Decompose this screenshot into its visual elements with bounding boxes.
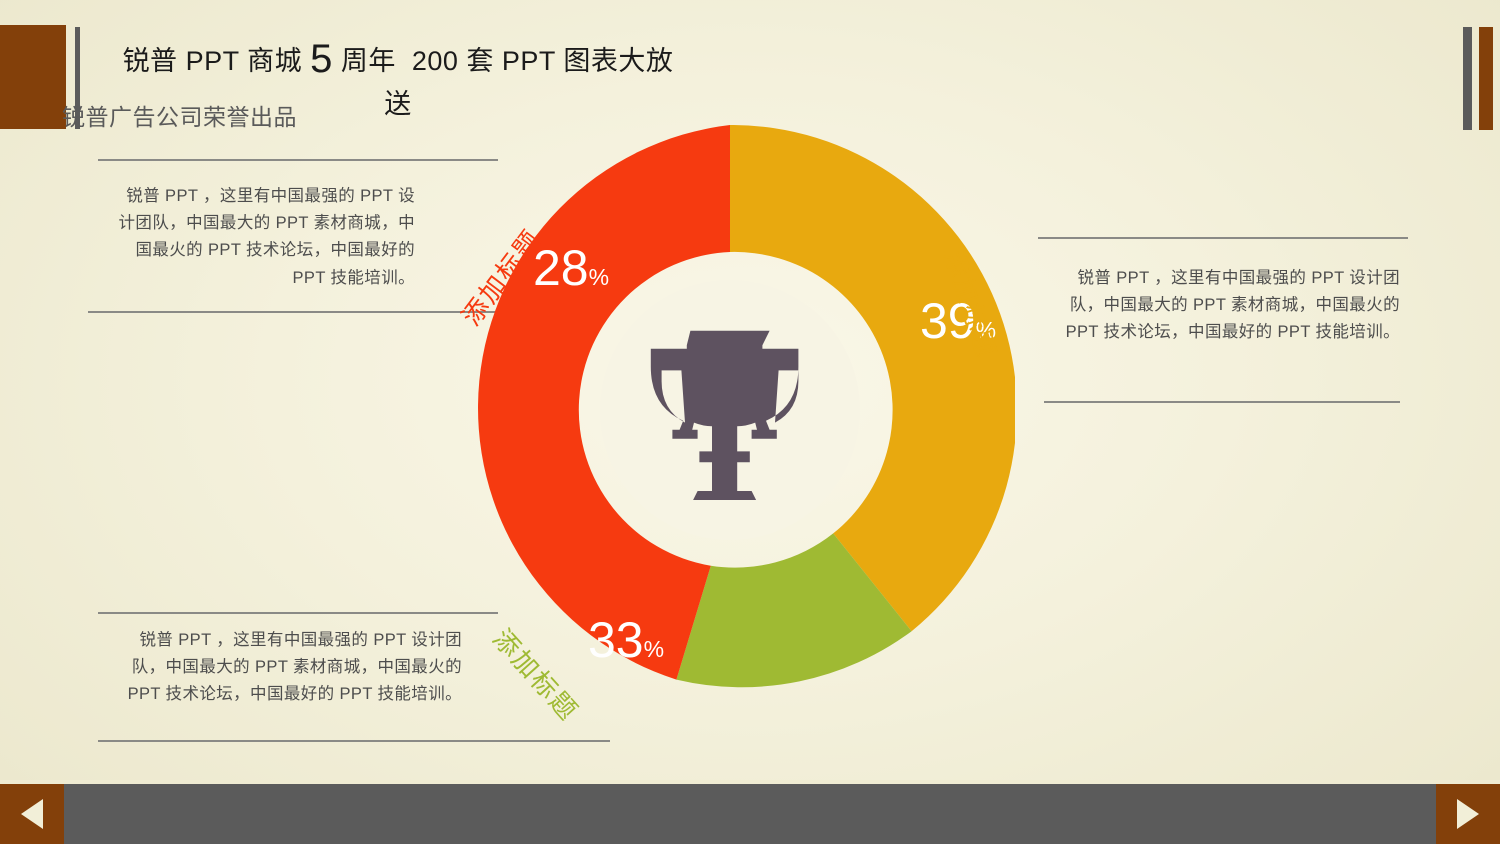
callout-left-rule-mid: [88, 311, 498, 313]
arrow-right-icon: [1457, 799, 1479, 829]
callout-right: 锐普 PPT ，这里有中国最强的 PPT 设计团队，中国最大的 PPT 素材商城…: [1060, 265, 1400, 347]
callout-bottom-rule-mid: [98, 740, 610, 742]
donut-chart: [445, 125, 1015, 695]
trophy-icon: [640, 320, 820, 500]
callout-right-text: 锐普 PPT ，这里有中国最强的 PPT 设计团队，中国最大的 PPT 素材商城…: [1060, 265, 1400, 347]
callout-left: 锐普 PPT ，这里有中国最强的 PPT 设计团队，中国最大的 PPT 素材商城…: [110, 183, 415, 292]
callout-right-rule-top: [1038, 237, 1408, 239]
donut-value-green-number: 33: [588, 612, 644, 668]
callout-bottom-text: 锐普 PPT ，这里有中国最强的 PPT 设计团队，中国最大的 PPT 素材商城…: [112, 627, 462, 709]
right-edge-gray-bar: [1463, 27, 1472, 130]
arrow-left-icon: [21, 799, 43, 829]
donut-value-green: 33%: [588, 615, 664, 665]
bottom-bar: [0, 784, 1500, 844]
callout-bottom-rule-top: [98, 612, 498, 614]
callout-left-text: 锐普 PPT ，这里有中国最强的 PPT 设计团队，中国最大的 PPT 素材商城…: [110, 183, 415, 292]
slide-canvas: 锐普 PPT 商城 5 周年 200 套 PPT 图表大放送 锐普广告公司荣誉出…: [0, 0, 1500, 844]
title-accent-block: [0, 25, 66, 129]
callout-bottom: 锐普 PPT ，这里有中国最强的 PPT 设计团队，中国最大的 PPT 素材商城…: [112, 627, 462, 709]
donut-value-red: 28%: [533, 243, 609, 293]
page-subtitle: 锐普广告公司荣誉出品: [62, 98, 482, 132]
donut-value-red-suffix: %: [589, 264, 609, 290]
prev-slide-button[interactable]: [0, 784, 64, 844]
callout-right-rule-mid: [1044, 401, 1400, 403]
donut-value-green-suffix: %: [644, 636, 664, 662]
title-highlight-number: 5: [310, 37, 333, 81]
next-slide-button[interactable]: [1436, 784, 1500, 844]
callout-left-rule-top: [98, 159, 498, 161]
right-edge-brown-bar: [1479, 27, 1493, 130]
page-title-text: 锐普 PPT 商城 5 周年 200 套 PPT 图表大放: [123, 46, 674, 76]
